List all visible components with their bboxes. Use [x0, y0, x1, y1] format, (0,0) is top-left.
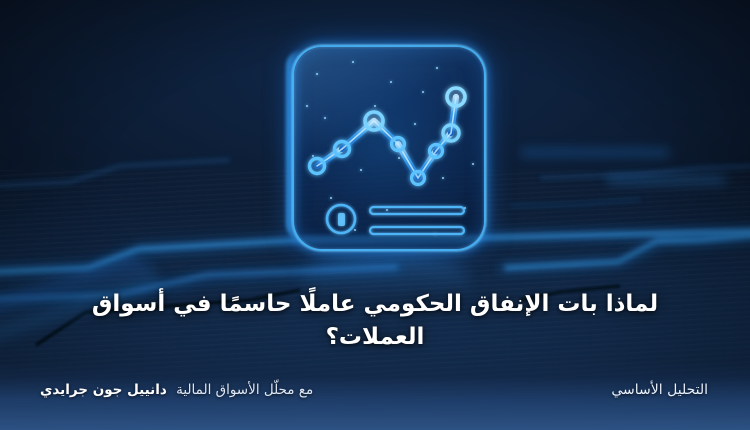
- page-title: لماذا بات الإنفاق الحكومي عاملًا حاسمًا …: [40, 288, 710, 353]
- category-label: التحليل الأساسي: [611, 382, 708, 398]
- byline-prefix: مع محلّل الأسواق المالية: [176, 382, 313, 398]
- article-banner: لماذا بات الإنفاق الحكومي عاملًا حاسمًا …: [0, 0, 750, 430]
- byline: مع محلّل الأسواق المالية دانييل جون جراي…: [40, 382, 313, 398]
- byline-author: دانييل جون جرايدي: [40, 382, 167, 398]
